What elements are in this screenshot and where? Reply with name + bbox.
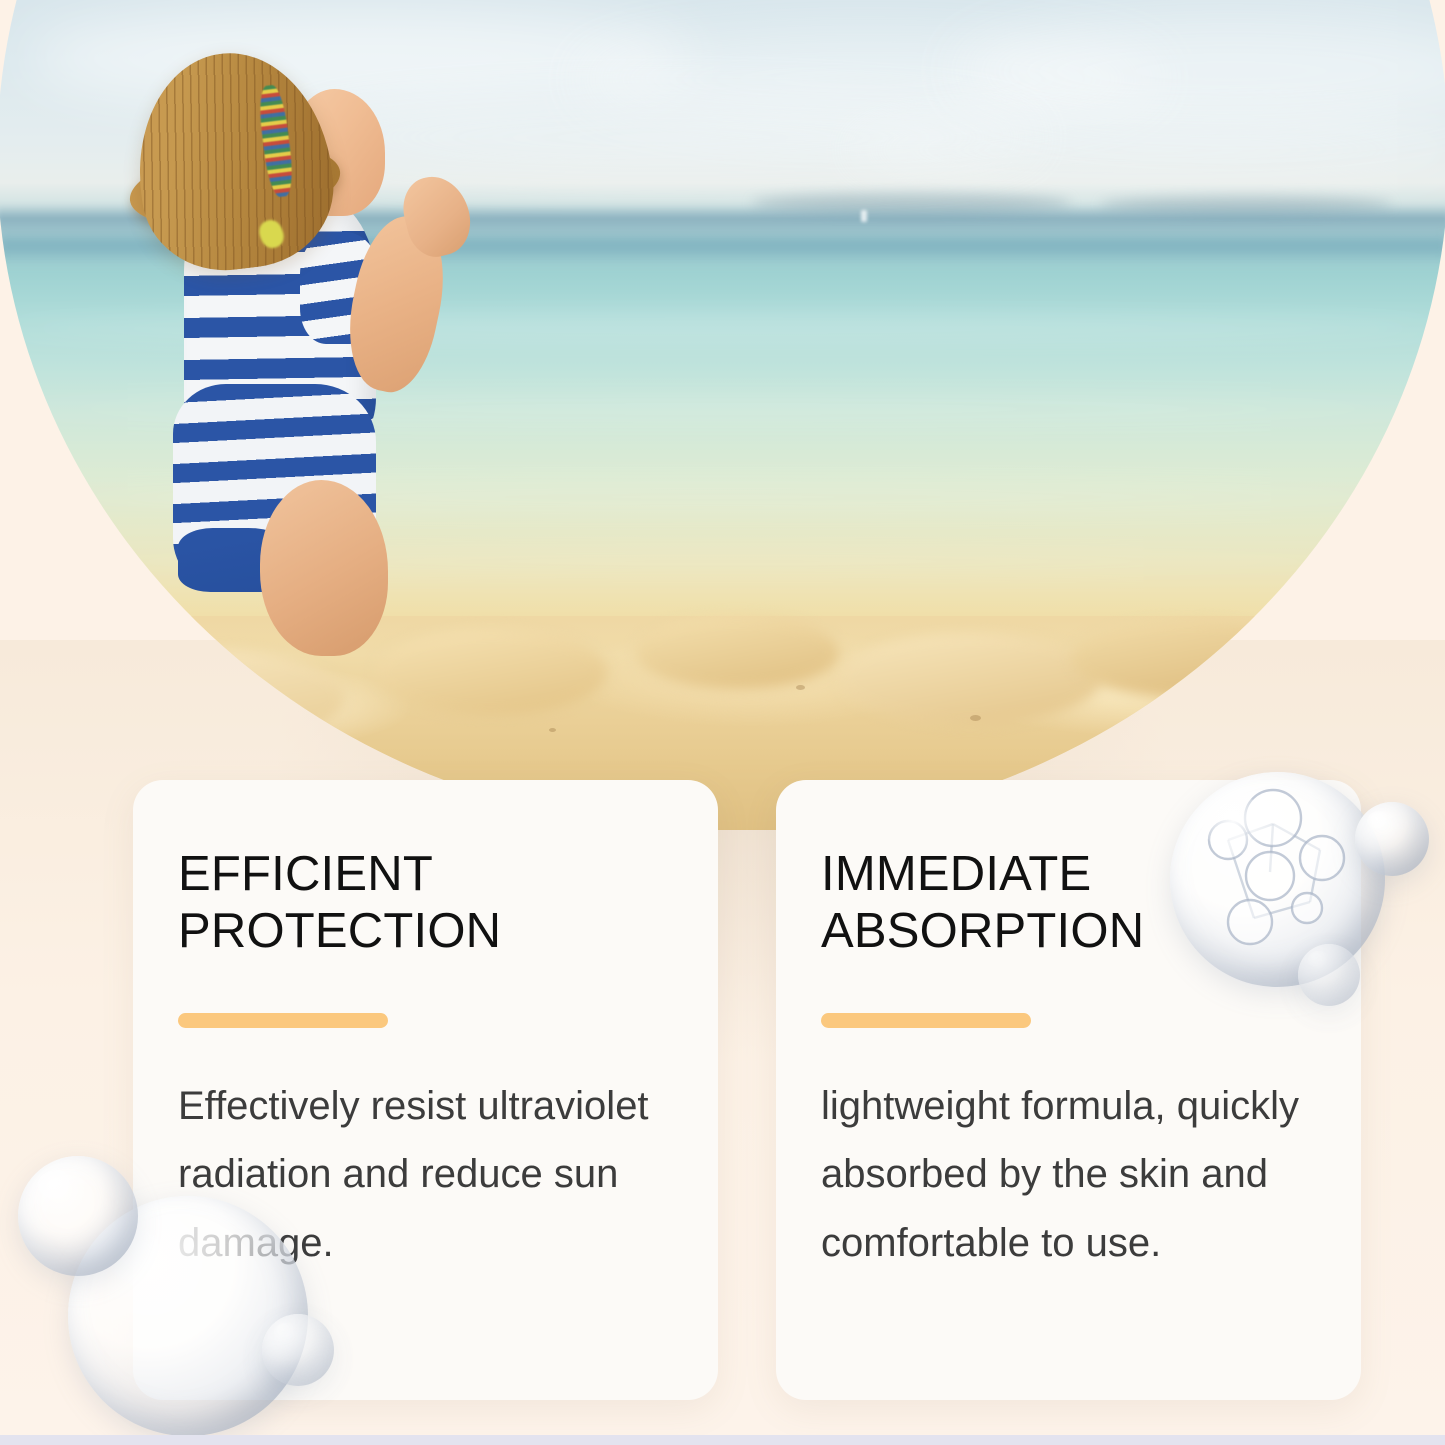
card-title: EFFICIENT PROTECTION — [178, 846, 688, 961]
baby-figure — [120, 17, 701, 816]
card-body-text: lightweight formula, quickly absorbed by… — [821, 1072, 1331, 1278]
bottom-edge-strip — [0, 1435, 1445, 1445]
distant-boat — [861, 210, 867, 222]
molecule-droplet-decoration — [1170, 772, 1430, 1032]
water-droplet-small-icon — [1355, 802, 1429, 876]
beach-photo — [0, 0, 1445, 830]
hero-image-clip — [0, 0, 1445, 830]
water-droplet-small-icon — [262, 1314, 334, 1386]
accent-divider — [178, 1013, 388, 1028]
water-droplet-tiny-icon — [1298, 944, 1360, 1006]
baby-leg — [260, 480, 388, 656]
promo-banner: EFFICIENT PROTECTION Effectively resist … — [0, 0, 1445, 1445]
accent-divider — [821, 1013, 1031, 1028]
hero-circular-mask — [0, 0, 1445, 830]
water-droplet-medium-icon — [18, 1156, 138, 1276]
droplet-cluster-decoration — [10, 1148, 340, 1445]
